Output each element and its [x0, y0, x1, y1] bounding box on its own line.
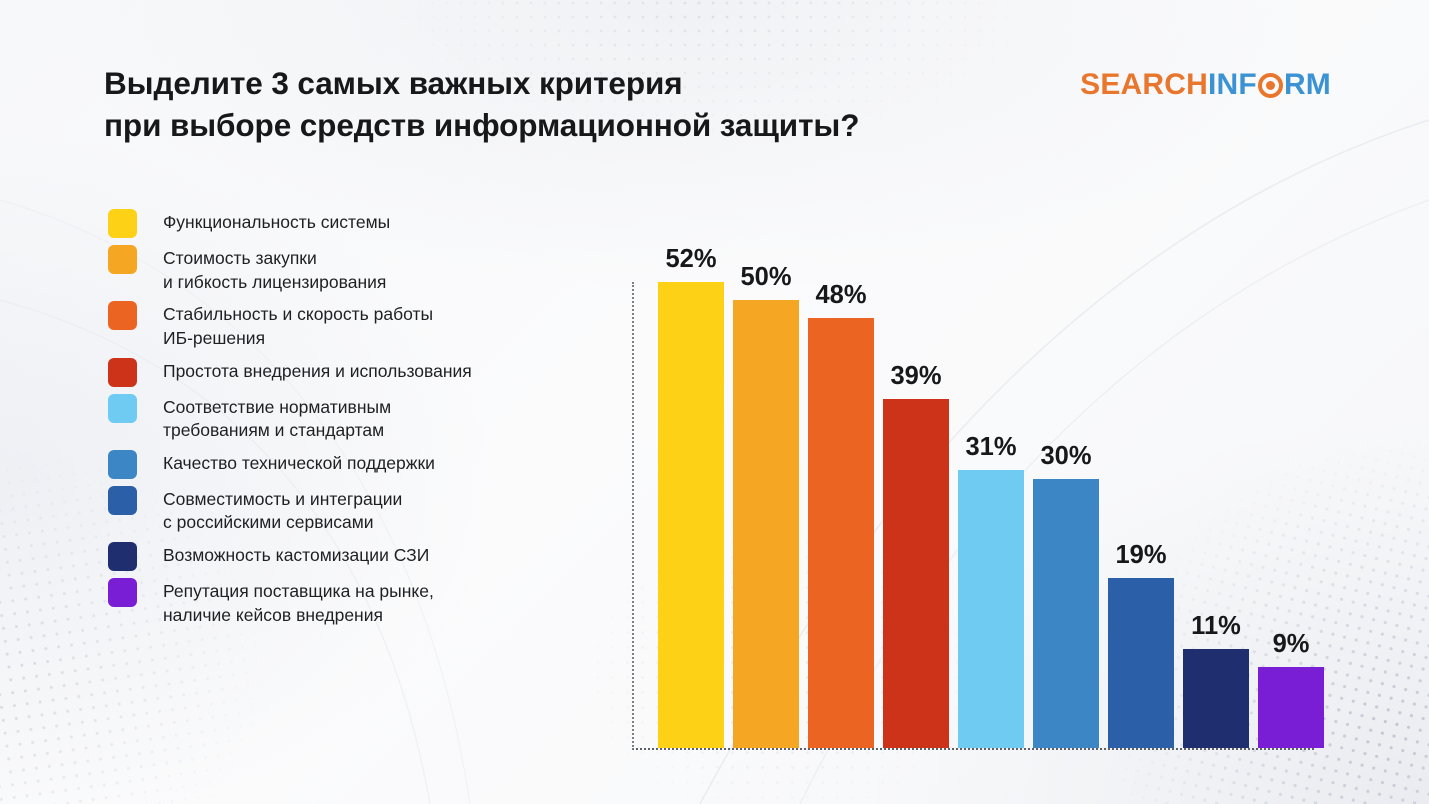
legend-item: Совместимость и интеграции с российскими…: [108, 485, 578, 535]
bar-value-label: 48%: [815, 281, 866, 310]
searchinform-logo: SEARCHINFRM: [1080, 70, 1331, 100]
bar-rect: [1108, 578, 1174, 748]
legend-color-swatch: [108, 209, 137, 238]
legend-item-label: Возможность кастомизации СЗИ: [163, 541, 429, 568]
bar-chart: 52%50%48%39%31%30%19%11%9%: [632, 238, 1314, 750]
legend-item: Функциональность системы: [108, 208, 578, 238]
legend-item: Стоимость закупки и гибкость лицензирова…: [108, 244, 578, 294]
page-title: Выделите 3 самых важных критерия при выб…: [104, 63, 1044, 147]
bar-group: 50%: [733, 263, 799, 748]
chart-plot-area: 52%50%48%39%31%30%19%11%9%: [632, 282, 1314, 750]
bar-group: 48%: [808, 281, 874, 748]
legend-item-label: Соответствие нормативным требованиям и с…: [163, 393, 391, 443]
bar-value-label: 31%: [965, 433, 1016, 462]
legend-item: Стабильность и скорость работы ИБ-решени…: [108, 300, 578, 350]
legend-item: Качество технической поддержки: [108, 449, 578, 479]
infographic-canvas: Выделите 3 самых важных критерия при выб…: [0, 0, 1429, 804]
bar-rect: [808, 318, 874, 748]
bar-group: 30%: [1033, 442, 1099, 748]
legend-item: Репутация поставщика на рынке, наличие к…: [108, 577, 578, 627]
legend-color-swatch: [108, 542, 137, 571]
bar-rect: [1033, 479, 1099, 748]
legend-color-swatch: [108, 578, 137, 607]
bar-rect: [1258, 667, 1324, 748]
legend-item-label: Репутация поставщика на рынке, наличие к…: [163, 577, 434, 627]
legend-item-label: Простота внедрения и использования: [163, 357, 472, 384]
legend-color-swatch: [108, 394, 137, 423]
legend-color-swatch: [108, 245, 137, 274]
bar-group: 19%: [1108, 541, 1174, 748]
bar-group: 11%: [1183, 612, 1249, 748]
legend-item: Соответствие нормативным требованиям и с…: [108, 393, 578, 443]
logo-text-search: SEARCH: [1080, 70, 1208, 100]
bar-value-label: 11%: [1191, 612, 1241, 641]
bar-value-label: 50%: [740, 263, 791, 292]
bar-rect: [958, 470, 1024, 748]
legend-item-label: Качество технической поддержки: [163, 449, 435, 476]
bar-value-label: 30%: [1040, 442, 1091, 471]
target-circle-icon: [1258, 73, 1283, 98]
bar-rect: [658, 282, 724, 748]
legend-item-label: Совместимость и интеграции с российскими…: [163, 485, 402, 535]
legend-item: Простота внедрения и использования: [108, 357, 578, 387]
legend-item-label: Функциональность системы: [163, 208, 390, 235]
legend-color-swatch: [108, 358, 137, 387]
bar-group: 39%: [883, 362, 949, 749]
bar-group: 31%: [958, 433, 1024, 748]
chart-legend: Функциональность системыСтоимость закупк…: [108, 208, 578, 633]
legend-color-swatch: [108, 301, 137, 330]
legend-item: Возможность кастомизации СЗИ: [108, 541, 578, 571]
logo-text-inf: INF: [1208, 70, 1257, 100]
bar-value-label: 39%: [890, 362, 941, 391]
legend-item-label: Стабильность и скорость работы ИБ-решени…: [163, 300, 433, 350]
legend-color-swatch: [108, 450, 137, 479]
bar-group: 52%: [658, 245, 724, 748]
bar-value-label: 19%: [1115, 541, 1166, 570]
bar-rect: [883, 399, 949, 749]
legend-color-swatch: [108, 486, 137, 515]
chart-bars-container: 52%50%48%39%31%30%19%11%9%: [636, 282, 1314, 748]
legend-item-label: Стоимость закупки и гибкость лицензирова…: [163, 244, 386, 294]
bar-value-label: 52%: [665, 245, 716, 274]
bar-group: 9%: [1258, 630, 1324, 748]
bar-rect: [1183, 649, 1249, 748]
logo-text-rm: RM: [1284, 70, 1331, 100]
bar-rect: [733, 300, 799, 748]
bar-value-label: 9%: [1273, 630, 1310, 659]
